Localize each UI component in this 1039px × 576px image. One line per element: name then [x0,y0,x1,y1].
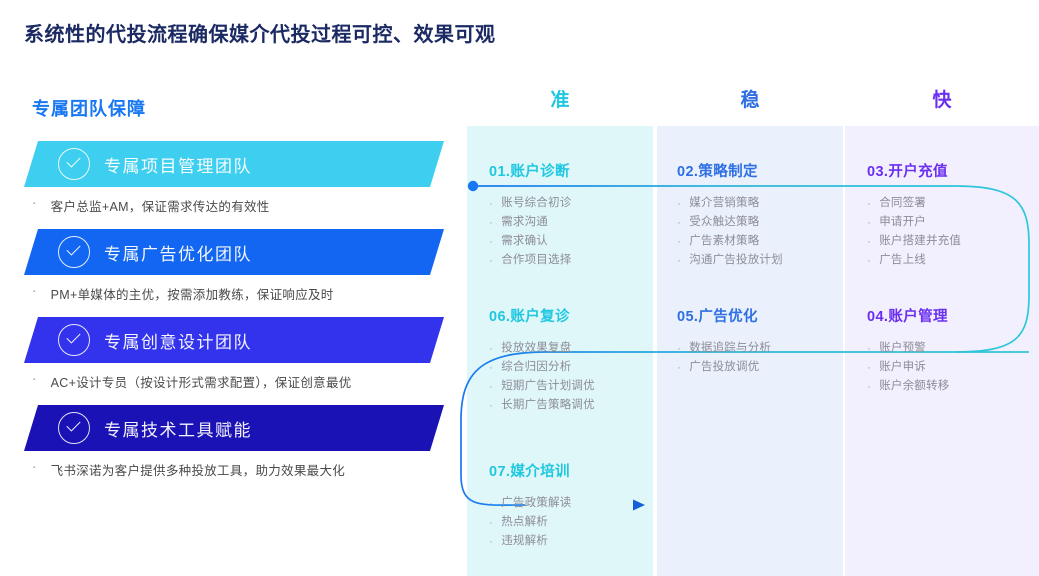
team-item[interactable]: 专属项目管理团队 · 客户总监+AM，保证需求传达的有效性 [24,141,444,215]
check-circle-icon [58,236,90,268]
check-circle-icon [58,324,90,356]
bullet-icon: · [489,194,493,213]
step-item-text: 广告政策解读 [501,494,571,513]
step-item-list: ·数据追踪与分析 ·广告投放调优 [677,339,842,377]
step-list-item: ·申请开户 [867,213,1032,232]
step-item-text: 短期广告计划调优 [501,377,595,396]
step-list-item: ·广告政策解读 [489,494,649,513]
step-item-text: 广告投放调优 [689,358,759,377]
step-item-text: 账号综合初诊 [501,194,571,213]
step-item-text: 合作项目选择 [501,251,571,270]
team-banner[interactable]: 专属广告优化团队 [24,229,444,275]
team-guarantee-section: 专属团队保障 专属项目管理团队 · 客户总监+AM，保证需求传达的有效性 专属广… [24,95,444,555]
step-card-07[interactable]: 07.媒介培训 ·广告政策解读 ·热点解析 ·违规解析 [489,460,649,551]
step-item-text: 广告上线 [879,251,926,270]
check-circle-icon [58,148,90,180]
step-item-text: 媒介营销策略 [689,194,759,213]
step-item-text: 投放效果复盘 [501,339,571,358]
step-item-list: ·合同签署 ·申请开户 ·账户搭建并充值 ·广告上线 [867,194,1032,270]
bullet-icon: · [32,460,37,473]
step-item-text: 账户申诉 [879,358,926,377]
bullet-icon: · [32,284,37,297]
step-title: 03.开户充值 [867,160,1032,181]
step-item-text: 热点解析 [501,513,548,532]
team-banner[interactable]: 专属创意设计团队 [24,317,444,363]
bullet-icon: · [677,194,681,213]
step-item-text: 违规解析 [501,532,548,551]
bullet-icon: · [867,358,871,377]
step-list-item: ·数据追踪与分析 [677,339,842,358]
step-item-text: 账户搭建并充值 [879,232,961,251]
step-list-item: ·账号综合初诊 [489,194,649,213]
bullet-icon: · [867,339,871,358]
step-item-text: 账户预警 [879,339,926,358]
step-list-item: ·沟通广告投放计划 [677,251,842,270]
step-item-list: ·投放效果复盘 ·综合归因分析 ·短期广告计划调优 ·长期广告策略调优 [489,339,649,415]
step-item-list: ·媒介营销策略 ·受众触达策略 ·广告素材策略 ·沟通广告投放计划 [677,194,842,270]
step-list-item: ·违规解析 [489,532,649,551]
bullet-icon: · [867,251,871,270]
step-title: 05.广告优化 [677,305,842,326]
bullet-icon: · [489,339,493,358]
bullet-icon: · [489,358,493,377]
step-title: 02.策略制定 [677,160,842,181]
step-list-item: ·合同签署 [867,194,1032,213]
step-card-06[interactable]: 06.账户复诊 ·投放效果复盘 ·综合归因分析 ·短期广告计划调优 ·长期广告策… [489,305,649,415]
team-label: 专属项目管理团队 [104,152,252,177]
team-banner[interactable]: 专属项目管理团队 [24,141,444,187]
step-item-list: ·账户预警 ·账户申诉 ·账户余额转移 [867,339,1032,396]
bullet-icon: · [489,213,493,232]
bullet-icon: · [489,377,493,396]
team-item[interactable]: 专属技术工具赋能 · 飞书深诺为客户提供多种投放工具，助力效果最大化 [24,405,444,479]
step-item-text: 需求沟通 [501,213,548,232]
team-description-text: PM+单媒体的主优，按需添加教练，保证响应及时 [51,284,334,303]
team-label: 专属广告优化团队 [104,240,252,265]
step-list-item: ·需求确认 [489,232,649,251]
step-item-text: 数据追踪与分析 [689,339,771,358]
column-header-wen: 稳 [657,85,843,112]
step-list-item: ·账户搭建并充值 [867,232,1032,251]
team-banner[interactable]: 专属技术工具赋能 [24,405,444,451]
team-description-text: 飞书深诺为客户提供多种投放工具，助力效果最大化 [51,460,345,479]
step-item-text: 综合归因分析 [501,358,571,377]
team-description-text: AC+设计专员（按设计形式需求配置），保证创意最优 [51,372,352,391]
step-list-item: ·账户余额转移 [867,377,1032,396]
step-list-item: ·广告素材策略 [677,232,842,251]
step-item-list: ·账号综合初诊 ·需求沟通 ·需求确认 ·合作项目选择 [489,194,649,270]
step-item-text: 长期广告策略调优 [501,396,595,415]
bullet-icon: · [489,513,493,532]
column-header-zhun: 准 [467,85,653,112]
step-list-item: ·媒介营销策略 [677,194,842,213]
bullet-icon: · [489,396,493,415]
team-item[interactable]: 专属创意设计团队 · AC+设计专员（按设计形式需求配置），保证创意最优 [24,317,444,391]
step-title: 01.账户诊断 [489,160,649,181]
section-heading: 专属团队保障 [32,95,444,121]
bullet-icon: · [489,494,493,513]
check-circle-icon [58,412,90,444]
bullet-icon: · [867,377,871,396]
team-description: · 飞书深诺为客户提供多种投放工具，助力效果最大化 [32,460,444,479]
step-title: 04.账户管理 [867,305,1032,326]
bullet-icon: · [867,213,871,232]
team-description: · AC+设计专员（按设计形式需求配置），保证创意最优 [32,372,444,391]
step-list-item: ·受众触达策略 [677,213,842,232]
bullet-icon: · [677,232,681,251]
bullet-icon: · [32,372,37,385]
bullet-icon: · [32,196,37,209]
step-list-item: ·热点解析 [489,513,649,532]
step-item-text: 申请开户 [879,213,926,232]
step-title: 07.媒介培训 [489,460,649,481]
step-card-04[interactable]: 04.账户管理 ·账户预警 ·账户申诉 ·账户余额转移 [867,305,1032,396]
step-list-item: ·广告投放调优 [677,358,842,377]
step-card-02[interactable]: 02.策略制定 ·媒介营销策略 ·受众触达策略 ·广告素材策略 ·沟通广告投放计… [677,160,842,270]
step-item-text: 账户余额转移 [879,377,949,396]
team-label: 专属技术工具赋能 [104,416,252,441]
step-card-05[interactable]: 05.广告优化 ·数据追踪与分析 ·广告投放调优 [677,305,842,377]
team-description: · PM+单媒体的主优，按需添加教练，保证响应及时 [32,284,444,303]
step-list-item: ·短期广告计划调优 [489,377,649,396]
step-item-text: 沟通广告投放计划 [689,251,783,270]
team-description-text: 客户总监+AM，保证需求传达的有效性 [51,196,270,215]
step-list-item: ·长期广告策略调优 [489,396,649,415]
step-item-text: 合同签署 [879,194,926,213]
bullet-icon: · [489,232,493,251]
step-list-item: ·投放效果复盘 [489,339,649,358]
bullet-icon: · [677,358,681,377]
bullet-icon: · [867,194,871,213]
step-item-list: ·广告政策解读 ·热点解析 ·违规解析 [489,494,649,551]
step-item-text: 受众触达策略 [689,213,759,232]
step-title: 06.账户复诊 [489,305,649,326]
step-list-item: ·广告上线 [867,251,1032,270]
team-label: 专属创意设计团队 [104,328,252,353]
step-list-item: ·合作项目选择 [489,251,649,270]
step-card-03[interactable]: 03.开户充值 ·合同签署 ·申请开户 ·账户搭建并充值 ·广告上线 [867,160,1032,270]
column-header-kuai: 快 [849,85,1035,112]
step-item-text: 需求确认 [501,232,548,251]
step-list-item: ·账户预警 [867,339,1032,358]
team-item[interactable]: 专属广告优化团队 · PM+单媒体的主优，按需添加教练，保证响应及时 [24,229,444,303]
process-flow-section: 准 稳 快 [455,85,1039,576]
bullet-icon: · [677,213,681,232]
step-card-01[interactable]: 01.账户诊断 ·账号综合初诊 ·需求沟通 ·需求确认 ·合作项目选择 [489,160,649,270]
bullet-icon: · [489,532,493,551]
step-item-text: 广告素材策略 [689,232,759,251]
step-list-item: ·综合归因分析 [489,358,649,377]
bullet-icon: · [677,251,681,270]
bullet-icon: · [867,232,871,251]
page-title: 系统性的代投流程确保媒介代投过程可控、效果可观 [24,18,496,47]
step-list-item: ·账户申诉 [867,358,1032,377]
bullet-icon: · [489,251,493,270]
team-description: · 客户总监+AM，保证需求传达的有效性 [32,196,444,215]
bullet-icon: · [677,339,681,358]
step-list-item: ·需求沟通 [489,213,649,232]
